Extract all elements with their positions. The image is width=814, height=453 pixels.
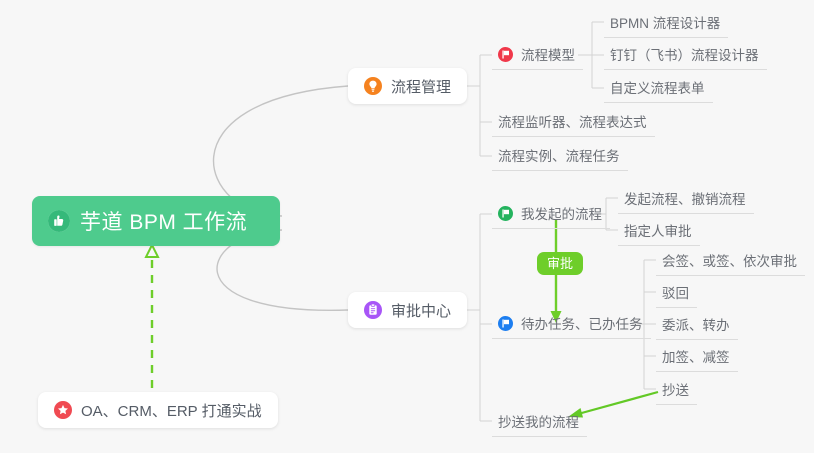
node-bpmn-designer[interactable]: BPMN 流程设计器	[604, 10, 728, 38]
node-listener-expression[interactable]: 流程监听器、流程表达式	[492, 109, 655, 137]
node-cc-my-process[interactable]: 抄送我的流程	[492, 409, 587, 437]
node-label: 流程监听器、流程表达式	[498, 111, 647, 131]
branch-node-label: 流程管理	[391, 76, 451, 97]
node-add-remove-sign[interactable]: 加签、减签	[656, 344, 738, 372]
node-label: 流程模型	[521, 44, 575, 64]
flag-icon	[498, 47, 513, 62]
node-label: 自定义流程表单	[610, 77, 705, 97]
root-node[interactable]: 芋道 BPM 工作流	[32, 196, 280, 246]
node-my-started-process[interactable]: 我发起的流程	[492, 201, 610, 229]
clipboard-icon	[364, 301, 382, 319]
flag-icon	[498, 206, 513, 221]
node-instance-task[interactable]: 流程实例、流程任务	[492, 143, 628, 171]
node-reject[interactable]: 驳回	[656, 280, 697, 308]
node-assignee-approval[interactable]: 指定人审批	[618, 218, 700, 246]
node-label: 流程实例、流程任务	[498, 145, 620, 165]
node-label: BPMN 流程设计器	[610, 12, 720, 32]
node-label: 待办任务、已办任务	[521, 313, 643, 333]
branch-node-label: 审批中心	[391, 300, 451, 321]
node-dingtalk-feishu-designer[interactable]: 钉钉（飞书）流程设计器	[604, 42, 767, 70]
node-label: 驳回	[662, 282, 689, 302]
node-label: 抄送	[662, 379, 689, 399]
node-process-model[interactable]: 流程模型	[492, 42, 583, 70]
node-todo-done-task[interactable]: 待办任务、已办任务	[492, 311, 651, 339]
node-label: 加签、减签	[662, 346, 730, 366]
node-label: 指定人审批	[624, 220, 692, 240]
node-start-cancel-process[interactable]: 发起流程、撤销流程	[618, 186, 754, 214]
branch-node-process-management[interactable]: 流程管理	[348, 68, 467, 104]
flag-icon	[498, 316, 513, 331]
approval-badge[interactable]: 审批	[537, 252, 583, 275]
node-label: 抄送我的流程	[498, 411, 579, 431]
node-custom-process-form[interactable]: 自定义流程表单	[604, 75, 713, 103]
node-label: 发起流程、撤销流程	[624, 188, 746, 208]
mindmap-canvas: 芋道 BPM 工作流 流程管理 流程模型 BPMN 流程设计器 钉钉（飞书	[0, 0, 814, 453]
node-label: 委派、转办	[662, 314, 730, 334]
node-countersign[interactable]: 会签、或签、依次审批	[656, 248, 805, 276]
callout-node-oa-crm-erp[interactable]: OA、CRM、ERP 打通实战	[38, 392, 278, 428]
lightbulb-icon	[364, 77, 382, 95]
callout-node-label: OA、CRM、ERP 打通实战	[81, 400, 262, 421]
node-label: 钉钉（飞书）流程设计器	[610, 44, 759, 64]
node-label: 我发起的流程	[521, 203, 602, 223]
star-icon	[54, 401, 72, 419]
node-delegate-transfer[interactable]: 委派、转办	[656, 312, 738, 340]
node-label: 会签、或签、依次审批	[662, 250, 797, 270]
thumbs-up-icon	[48, 210, 70, 232]
branch-node-approval-center[interactable]: 审批中心	[348, 292, 467, 328]
root-node-label: 芋道 BPM 工作流	[80, 206, 247, 236]
node-cc[interactable]: 抄送	[656, 377, 697, 405]
